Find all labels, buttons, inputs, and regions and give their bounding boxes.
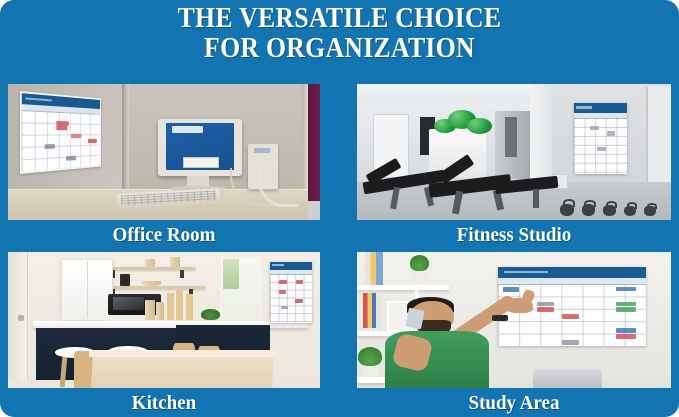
- calendar-note: [597, 147, 606, 151]
- wall-calendar-fitness: [574, 103, 627, 174]
- calendar-note: [279, 280, 287, 284]
- calendar-note: [537, 307, 555, 312]
- calendar-note: [616, 334, 635, 339]
- panel-fitness-studio: Fitness Studio: [357, 84, 671, 248]
- calendar-note: [295, 299, 302, 303]
- photo-fitness-studio: [357, 84, 671, 220]
- scene-kitchen: [8, 252, 320, 388]
- sticky-note: [183, 157, 219, 167]
- poster-root: THE VERSATILE CHOICE FOR ORGANIZATION: [0, 0, 679, 417]
- shelf-canister: [120, 274, 129, 286]
- tower-logo: [254, 148, 270, 153]
- kitchen-canister: [156, 302, 164, 320]
- gym-ceiling: [357, 84, 530, 103]
- cutting-board: [186, 294, 193, 320]
- door-handle: [18, 315, 24, 322]
- wall-calendar-kitchen: [270, 262, 312, 323]
- appliance-base: [105, 315, 164, 322]
- calendar-day-grid: [270, 274, 312, 322]
- dining-table-top: [89, 350, 276, 357]
- title-line-2: FOR ORGANIZATION: [27, 34, 652, 64]
- gym-machine-weight-stack: [505, 117, 518, 158]
- panel-caption-fitness-studio: Fitness Studio: [365, 222, 663, 248]
- calendar-note: [616, 287, 635, 292]
- bench-leg: [533, 189, 539, 208]
- wristwatch: [492, 315, 508, 322]
- calendar-note: [537, 302, 555, 307]
- window-foliage: [223, 259, 239, 289]
- upper-cabinet-white: [61, 259, 113, 321]
- kettlebell: [603, 205, 616, 216]
- panel-kitchen: Kitchen: [8, 252, 320, 416]
- title-line-1: THE VERSATILE CHOICE: [27, 4, 652, 34]
- cubicle-post-center: [122, 84, 129, 204]
- calendar-note: [57, 121, 69, 126]
- calendar-note: [503, 287, 519, 292]
- laptop: [533, 369, 602, 388]
- calendar-day-grid: [574, 118, 627, 174]
- panel-caption-study-area: Study Area: [365, 390, 663, 416]
- cubicle-divider-maroon: [308, 84, 320, 201]
- calendar-note: [57, 126, 68, 130]
- panel-caption-office-room: Office Room: [16, 222, 312, 248]
- calendar-note: [616, 307, 635, 312]
- calendar-note: [616, 302, 635, 307]
- wall-calendar-office: [20, 91, 101, 174]
- calendar-note: [616, 328, 635, 333]
- calendar-note: [590, 126, 600, 130]
- plant-foliage: [410, 255, 429, 271]
- shelf-vase: [145, 259, 154, 267]
- scene-study-area: [357, 252, 671, 388]
- shelf-vase: [170, 257, 179, 267]
- scene-office-room: [8, 84, 320, 220]
- calendar-note: [281, 306, 288, 310]
- cutting-board: [176, 290, 183, 320]
- calendar-note: [67, 156, 77, 161]
- calendar-note: [45, 144, 56, 149]
- photo-study-area: [357, 252, 671, 388]
- calendar-note: [296, 280, 303, 284]
- calendar-header-bar: [574, 103, 627, 113]
- calendar-note: [562, 314, 580, 319]
- calendar-header-bar: [270, 262, 312, 271]
- calendar-note: [71, 134, 82, 138]
- calendar-note: [607, 131, 616, 135]
- calendar-header-bar: [498, 267, 646, 278]
- shelf-bowl: [142, 281, 161, 286]
- microwave-door: [113, 297, 144, 311]
- dining-table: [91, 353, 274, 388]
- monitor-logo: [172, 126, 203, 133]
- scene-fitness-studio: [357, 84, 671, 220]
- panel-office-room: Office Room: [8, 84, 320, 248]
- books: [365, 252, 383, 285]
- kettlebell: [582, 204, 595, 216]
- shelf-board: [357, 285, 449, 290]
- calendar-note: [562, 340, 580, 345]
- cutting-board: [167, 293, 174, 320]
- photo-kitchen: [8, 252, 320, 388]
- calendar-note: [279, 290, 286, 294]
- page-title: THE VERSATILE CHOICE FOR ORGANIZATION: [27, 4, 652, 64]
- kitchen-plant: [201, 309, 220, 320]
- panel-study-area: Study Area: [357, 252, 671, 416]
- kettlebell: [624, 206, 636, 216]
- calendar-note: [88, 139, 97, 143]
- kitchen-canister: [145, 300, 154, 320]
- kettlebell: [560, 204, 574, 216]
- kettlebell: [644, 206, 655, 216]
- photo-office-room: [8, 84, 320, 220]
- plant-foliage: [358, 347, 382, 366]
- books: [363, 293, 383, 328]
- panel-caption-kitchen: Kitchen: [16, 390, 312, 416]
- shelf-bracket: [180, 270, 184, 278]
